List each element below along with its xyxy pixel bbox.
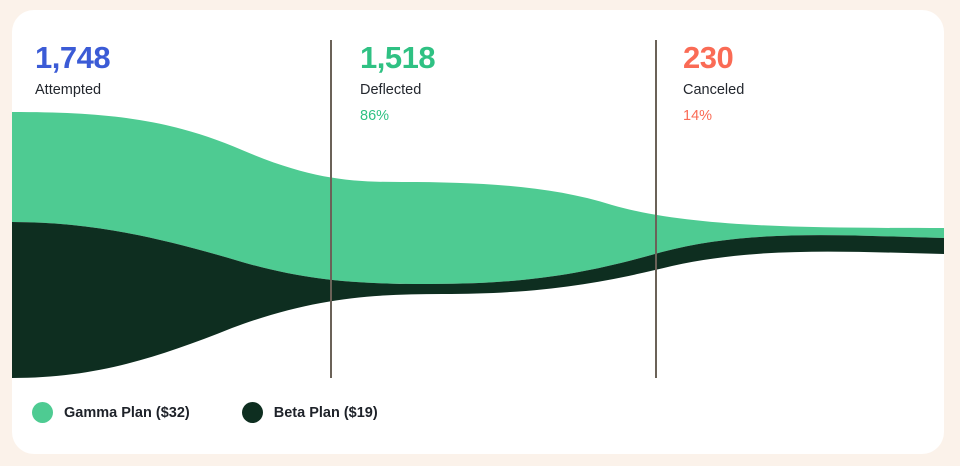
stat-attempted-label: Attempted bbox=[35, 83, 110, 98]
stat-canceled: 230 Canceled 14% bbox=[683, 42, 744, 123]
funnel-flow-area bbox=[12, 10, 944, 454]
stat-attempted-value: 1,748 bbox=[35, 42, 110, 73]
stat-deflected: 1,518 Deflected 86% bbox=[360, 42, 435, 123]
legend-item-beta-plan[interactable]: Beta Plan ($19) bbox=[242, 402, 378, 423]
stat-deflected-label: Deflected bbox=[360, 83, 435, 98]
chart-legend: Gamma Plan ($32) Beta Plan ($19) bbox=[32, 402, 378, 423]
legend-label-gamma-plan: Gamma Plan ($32) bbox=[64, 405, 190, 421]
stat-canceled-label: Canceled bbox=[683, 83, 744, 98]
legend-item-gamma-plan[interactable]: Gamma Plan ($32) bbox=[32, 402, 190, 423]
stat-canceled-value: 230 bbox=[683, 42, 744, 73]
stat-canceled-percent: 14% bbox=[683, 109, 744, 124]
funnel-flow-svg bbox=[12, 10, 944, 454]
stat-attempted: 1,748 Attempted bbox=[35, 42, 110, 98]
legend-swatch-icon-beta-plan bbox=[242, 402, 263, 423]
stat-deflected-percent: 86% bbox=[360, 109, 435, 124]
stat-deflected-value: 1,518 bbox=[360, 42, 435, 73]
legend-label-beta-plan: Beta Plan ($19) bbox=[274, 405, 378, 421]
legend-swatch-icon-gamma-plan bbox=[32, 402, 53, 423]
funnel-chart-card: 1,748 Attempted 1,518 Deflected 86% 230 … bbox=[12, 10, 944, 454]
chart-page: 1,748 Attempted 1,518 Deflected 86% 230 … bbox=[0, 0, 960, 466]
